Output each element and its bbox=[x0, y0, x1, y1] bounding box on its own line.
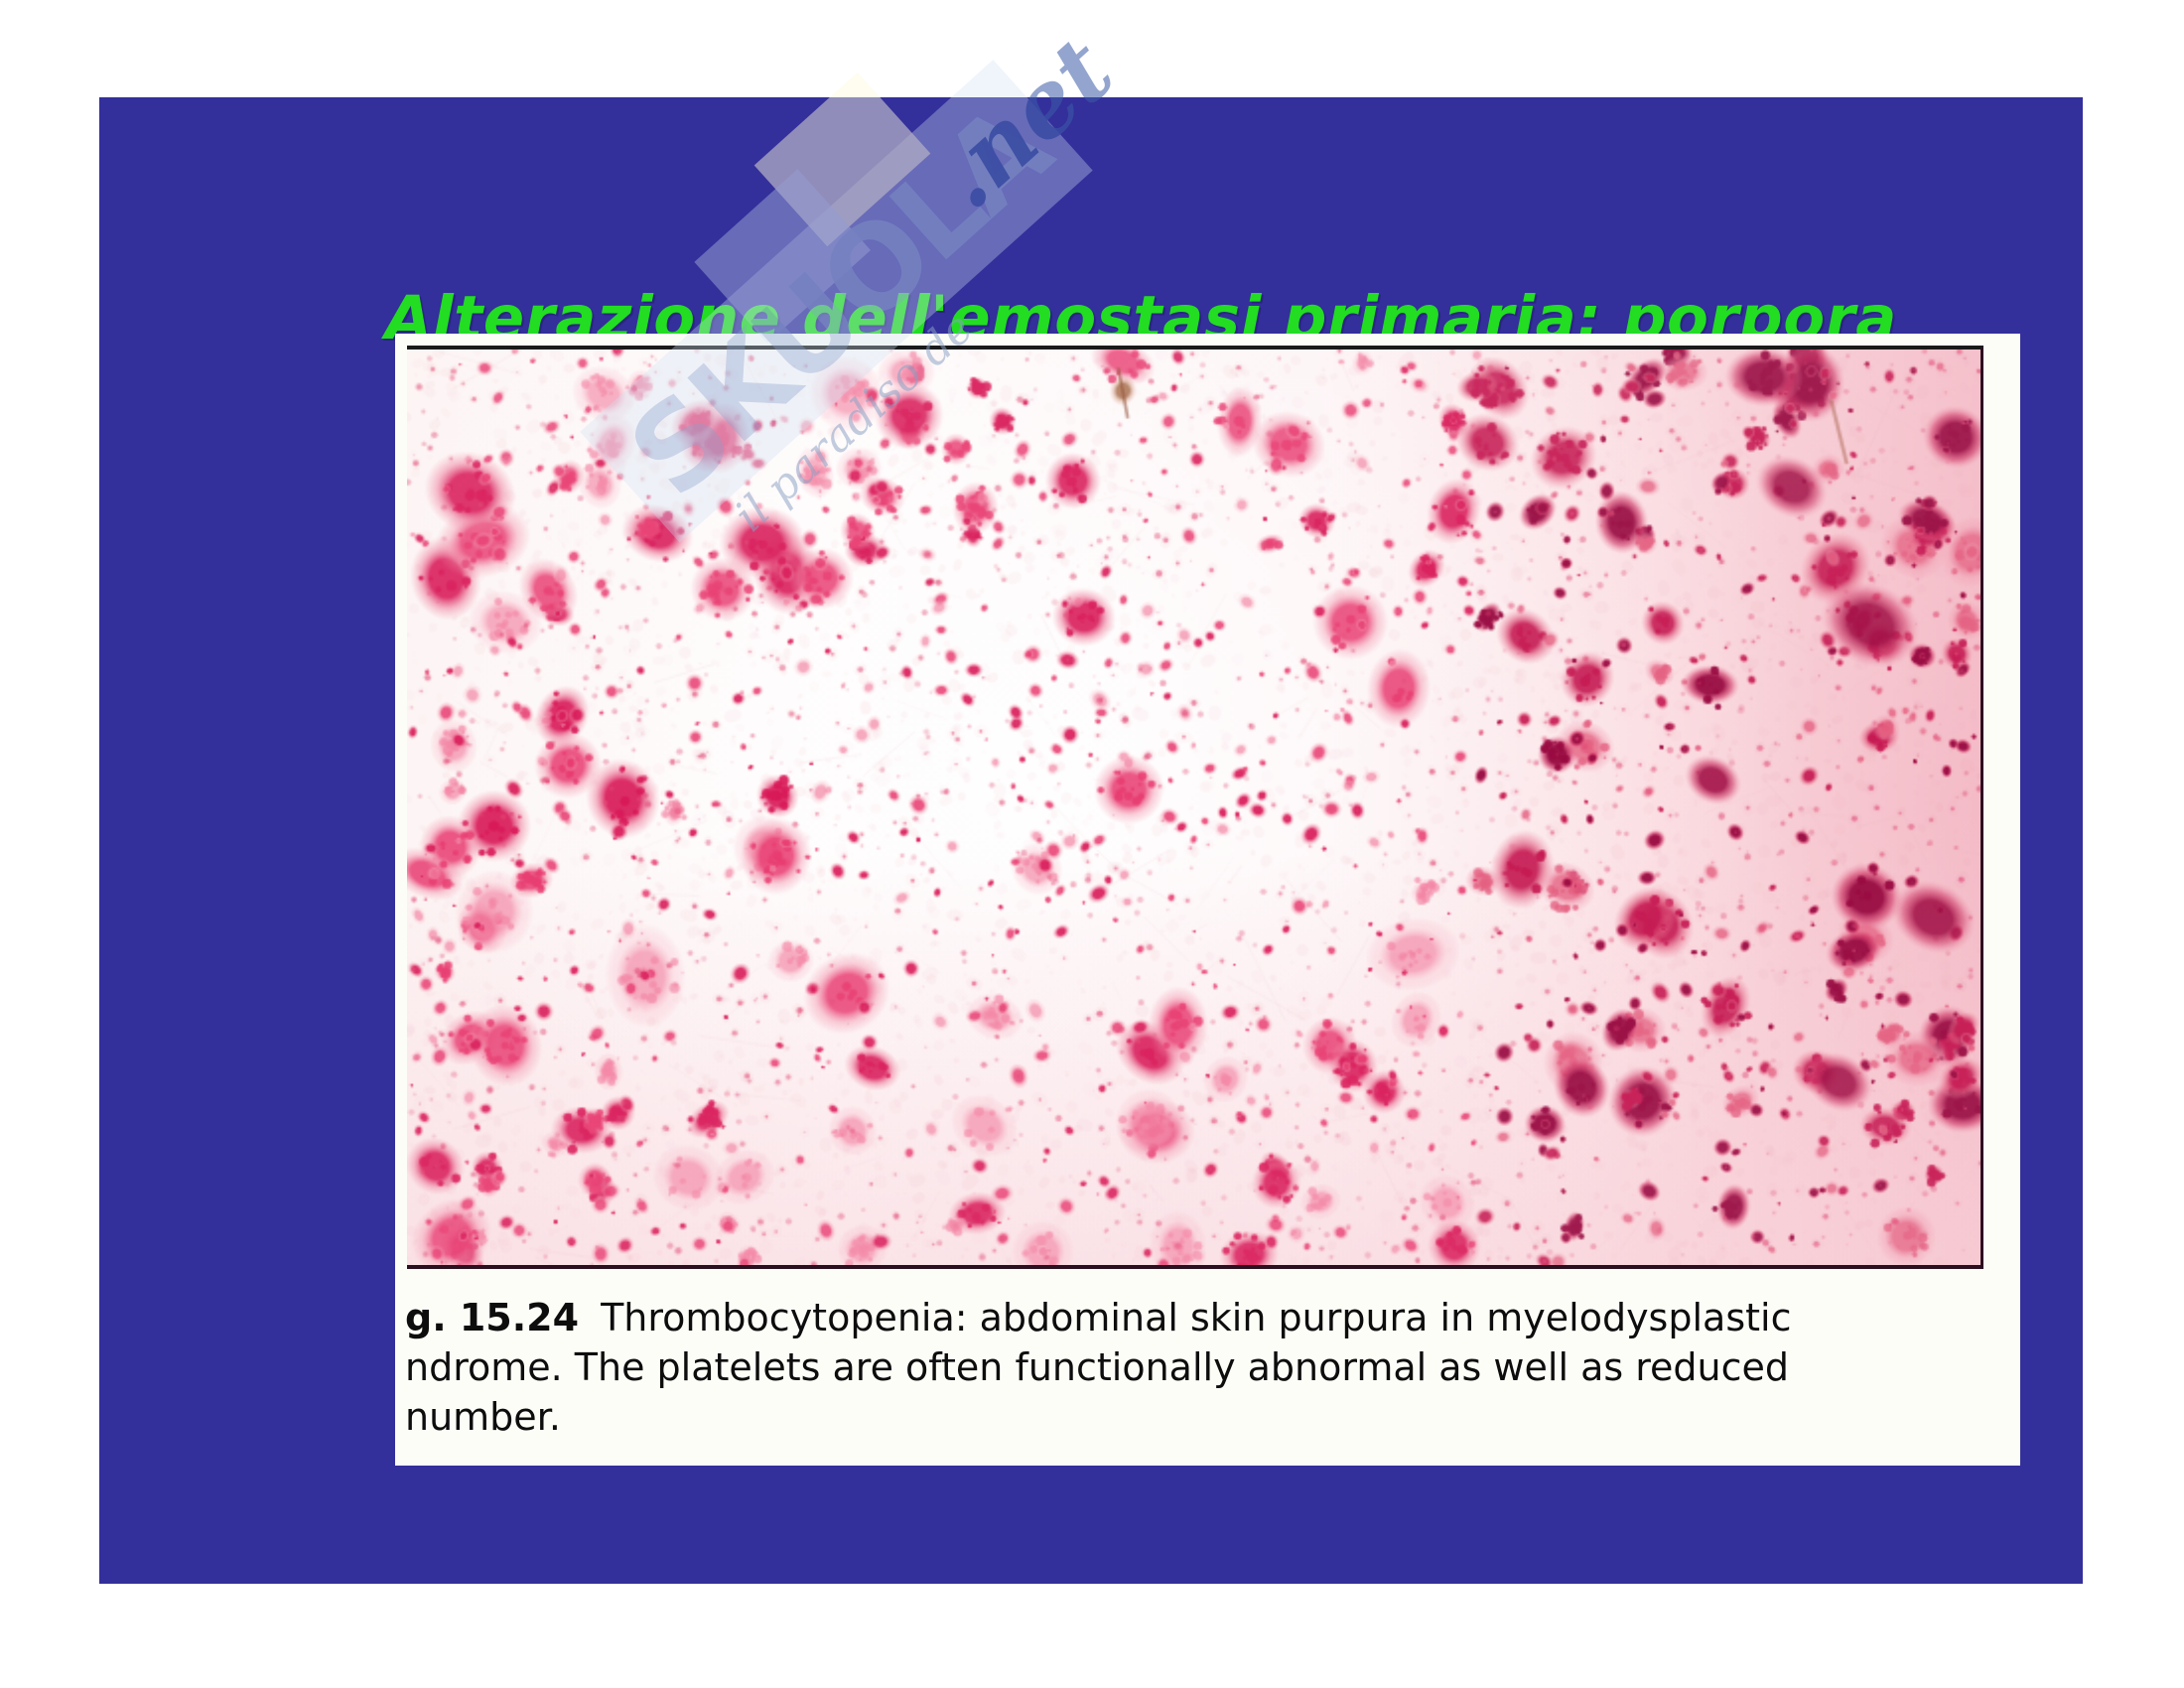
figure-number: g. 15.24 bbox=[405, 1296, 579, 1339]
figure-panel: g. 15.24Thrombocytopenia: abdominal skin… bbox=[395, 334, 2020, 1466]
caption-line-1: g. 15.24Thrombocytopenia: abdominal skin… bbox=[395, 1293, 2020, 1342]
caption-line-2: ndrome. The platelets are often function… bbox=[395, 1342, 2020, 1392]
caption-text-3: number. bbox=[405, 1395, 561, 1439]
caption-text-1: Thrombocytopenia: abdominal skin purpura… bbox=[601, 1296, 1791, 1339]
slide-page: Alterazione dell'emostasi primaria: porp… bbox=[0, 0, 2184, 1688]
presentation-slide: Alterazione dell'emostasi primaria: porp… bbox=[99, 97, 2083, 1584]
caption-text-2: ndrome. The platelets are often function… bbox=[405, 1345, 1789, 1389]
figure-caption: g. 15.24Thrombocytopenia: abdominal skin… bbox=[395, 1293, 2020, 1442]
photo-frame bbox=[407, 346, 1983, 1269]
caption-line-3: number. bbox=[395, 1392, 2020, 1442]
skin-photo-canvas bbox=[407, 350, 1980, 1265]
purpura-photograph bbox=[407, 350, 1980, 1265]
